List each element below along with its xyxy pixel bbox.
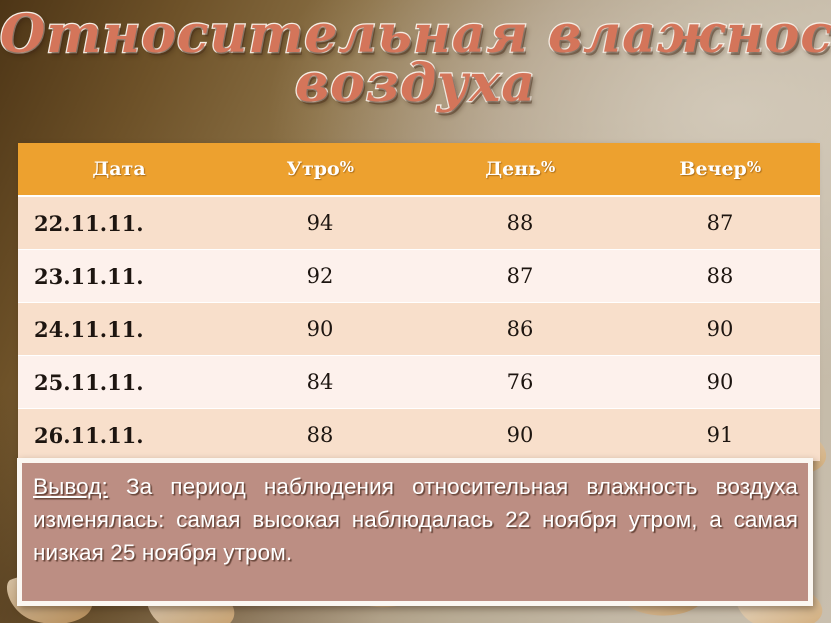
column-header-day-label: День bbox=[485, 158, 541, 180]
table-row: 25.11.11. 84 76 90 bbox=[18, 356, 820, 409]
table-row: 23.11.11. 92 87 88 bbox=[18, 250, 820, 303]
cell-evening: 87 bbox=[620, 196, 820, 250]
humidity-table-card: Дата Утро% День% Вечер% 22.11.11. 94 88 … bbox=[18, 143, 814, 461]
cell-morning: 84 bbox=[220, 356, 420, 409]
cell-date: 24.11.11. bbox=[18, 303, 220, 356]
column-header-date-label: Дата bbox=[92, 158, 145, 180]
table-row: 26.11.11. 88 90 91 bbox=[18, 409, 820, 462]
slide-canvas: Относительная влажность воздуха Дата Утр… bbox=[0, 0, 831, 623]
table-header: Дата Утро% День% Вечер% bbox=[18, 143, 820, 196]
cell-morning: 90 bbox=[220, 303, 420, 356]
cell-evening: 91 bbox=[620, 409, 820, 462]
cell-day: 88 bbox=[420, 196, 620, 250]
conclusion-lead-label: Вывод: bbox=[33, 474, 108, 499]
cell-day: 90 bbox=[420, 409, 620, 462]
table-body: 22.11.11. 94 88 87 23.11.11. 92 87 88 24… bbox=[18, 196, 820, 461]
percent-sign-evening: % bbox=[747, 158, 761, 176]
column-header-evening-label: Вечер bbox=[679, 158, 746, 180]
percent-sign-morning: % bbox=[340, 158, 354, 176]
conclusion-box: Вывод: За период наблюдения относительна… bbox=[17, 458, 813, 606]
table-row: 22.11.11. 94 88 87 bbox=[18, 196, 820, 250]
cell-morning: 92 bbox=[220, 250, 420, 303]
cell-morning: 88 bbox=[220, 409, 420, 462]
column-header-morning-label: Утро bbox=[287, 158, 340, 180]
percent-sign-day: % bbox=[541, 158, 555, 176]
cell-date: 23.11.11. bbox=[18, 250, 220, 303]
column-header-date: Дата bbox=[18, 143, 220, 196]
table-header-row: Дата Утро% День% Вечер% bbox=[18, 143, 820, 196]
column-header-morning: Утро% bbox=[220, 143, 420, 196]
humidity-table: Дата Утро% День% Вечер% 22.11.11. 94 88 … bbox=[18, 143, 820, 461]
cell-evening: 90 bbox=[620, 303, 820, 356]
column-header-evening: Вечер% bbox=[620, 143, 820, 196]
column-header-day: День% bbox=[420, 143, 620, 196]
table-row: 24.11.11. 90 86 90 bbox=[18, 303, 820, 356]
cell-day: 87 bbox=[420, 250, 620, 303]
conclusion-body-text: За период наблюдения относительная влажн… bbox=[33, 474, 798, 565]
cell-evening: 88 bbox=[620, 250, 820, 303]
cell-day: 86 bbox=[420, 303, 620, 356]
cell-date: 25.11.11. bbox=[18, 356, 220, 409]
cell-day: 76 bbox=[420, 356, 620, 409]
cell-date: 26.11.11. bbox=[18, 409, 220, 462]
cell-morning: 94 bbox=[220, 196, 420, 250]
cell-date: 22.11.11. bbox=[18, 196, 220, 250]
cell-evening: 90 bbox=[620, 356, 820, 409]
conclusion-text: Вывод: За период наблюдения относительна… bbox=[33, 470, 798, 569]
